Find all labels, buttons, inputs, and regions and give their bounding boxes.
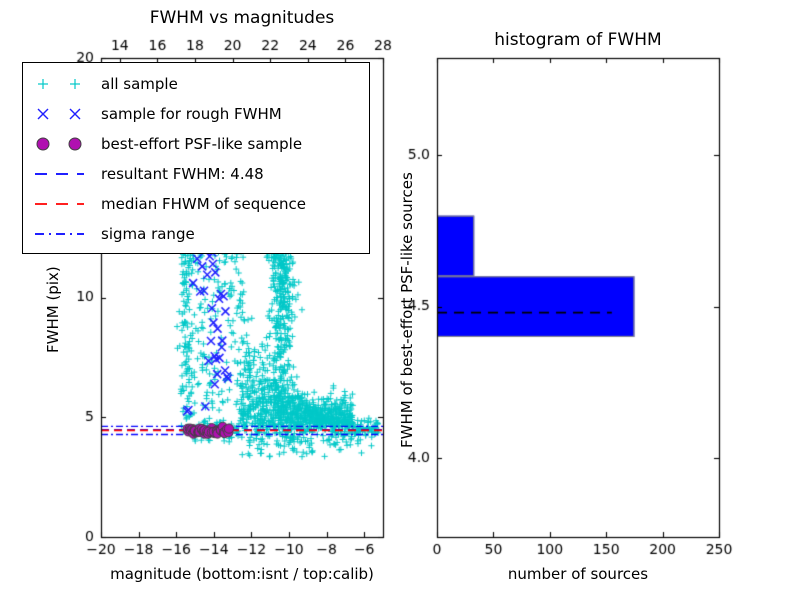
legend-marker-plus-icon [29, 69, 99, 99]
legend-label: resultant FWHM: 4.48 [101, 159, 264, 189]
legend-entry: median FHWM of sequence [23, 189, 369, 219]
left-plot-xlabel: magnitude (bottom:isnt / top:calib) [71, 565, 413, 583]
legend-label: sigma range [101, 219, 195, 249]
right-plot-xlabel: number of sources [407, 565, 749, 583]
legend-entry: best-effort PSF-like sample [23, 129, 369, 159]
legend-entry: all sample [23, 69, 369, 99]
legend-entry: sample for rough FWHM [23, 99, 369, 129]
legend-entry: sigma range [23, 219, 369, 249]
left-plot-ylabel: FWHM (pix) [44, 266, 62, 353]
left-plot-legend: all samplesample for rough FWHMbest-effo… [22, 62, 370, 254]
right-plot-ylabel: FWHM of best-effort PSF-like sources [398, 172, 416, 448]
legend-label: sample for rough FWHM [101, 99, 282, 129]
figure-canvas-root: FWHM vs magnitudes magnitude (bottom:isn… [0, 0, 800, 600]
legend-label: best-effort PSF-like sample [101, 129, 302, 159]
legend-label: all sample [101, 69, 178, 99]
legend-marker-circle-icon [29, 129, 99, 159]
legend-label: median FHWM of sequence [101, 189, 306, 219]
right-plot-title: histogram of FWHM [417, 30, 739, 50]
legend-marker-x-icon [29, 99, 99, 129]
legend-entry: resultant FWHM: 4.48 [23, 159, 369, 189]
legend-marker-dashed-line-icon [29, 189, 99, 219]
legend-marker-dashdot-line-icon [29, 219, 99, 249]
legend-marker-dashed-line-icon [29, 159, 99, 189]
left-plot-title: FWHM vs magnitudes [81, 8, 403, 28]
